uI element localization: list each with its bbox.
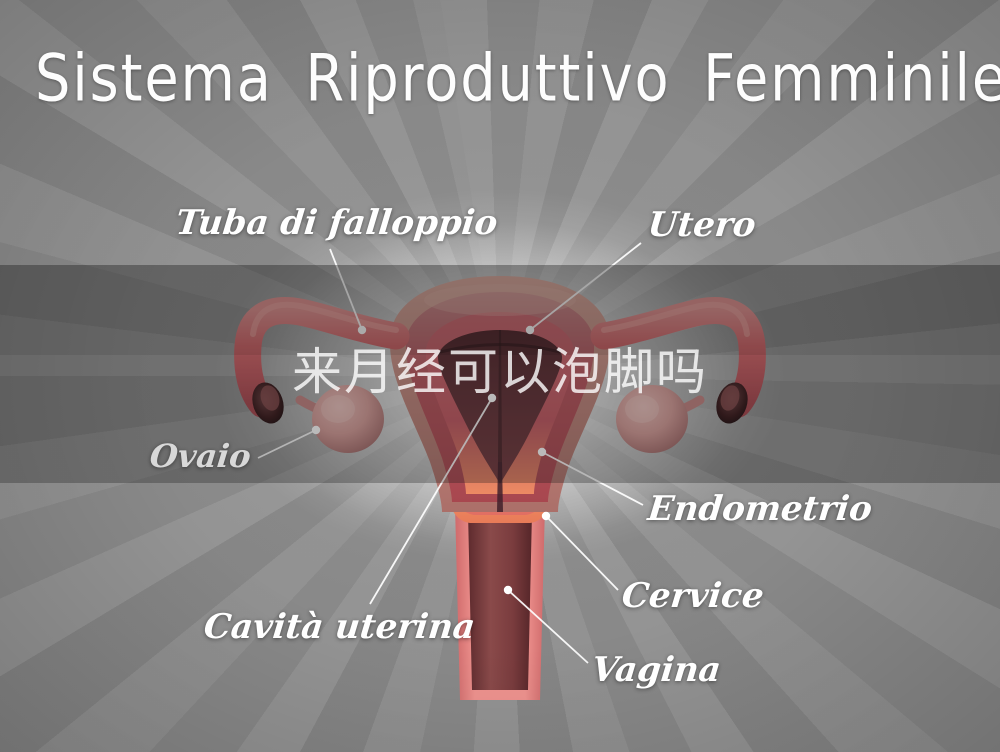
overlay-caption: 来月经可以泡脚吗 xyxy=(0,332,1000,404)
label-uterine-cavity: Cavità uterina xyxy=(202,607,477,647)
label-uterus: Utero xyxy=(646,205,758,245)
label-ovary: Ovaio xyxy=(148,437,253,475)
label-cervix: Cervice xyxy=(620,576,766,616)
page-title: Sistema Riproduttivo Femminile xyxy=(35,41,965,117)
image-canvas: Sistema Riproduttivo Femminile Tuba di f… xyxy=(0,0,1000,752)
label-fallopian-tube: Tuba di falloppio xyxy=(174,203,500,243)
label-vagina: Vagina xyxy=(590,650,723,690)
label-endometrium: Endometrio xyxy=(646,489,874,529)
